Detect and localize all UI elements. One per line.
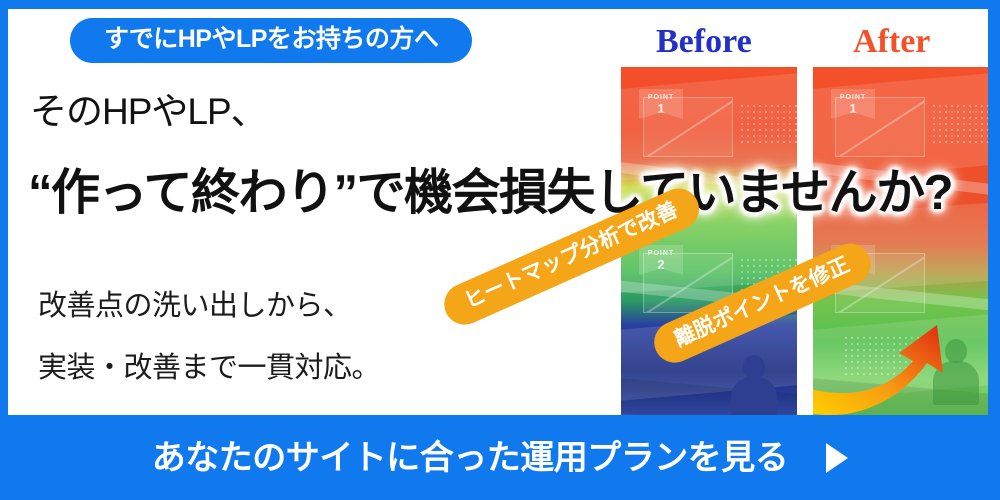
point-tag-word: POINT <box>831 89 875 101</box>
banner-white-card: すでにHPやLPをお持ちの方へ そのHPやLP、 改善点の洗い出しから、 実装・… <box>8 9 988 415</box>
promo-banner: すでにHPやLPをお持ちの方へ そのHPやLP、 改善点の洗い出しから、 実装・… <box>0 0 1000 500</box>
cta-label: あなたのサイトに合った運用プランを見る <box>152 441 789 475</box>
person-body <box>731 377 777 415</box>
point-tag-word: POINT <box>639 89 683 101</box>
subcopy-line-1: 改善点の洗い出しから、 <box>38 292 352 321</box>
headline-line-1: そのHPやLP、 <box>30 93 267 130</box>
headline-line-2: “作って終わり”で機会損失していませんか? <box>28 169 952 218</box>
growth-arrow-icon <box>813 317 988 415</box>
cta-bar[interactable]: あなたのサイトに合った運用プランを見る <box>0 415 1000 500</box>
audience-badge: すでにHPやLPをお持ちの方へ <box>70 18 472 63</box>
play-triangle-icon <box>826 443 848 473</box>
subcopy-line-2: 実装・改善まで一貫対応。 <box>38 354 380 383</box>
after-label: After <box>853 25 930 59</box>
person-silhouette <box>731 355 777 415</box>
point-tag-word: POINT <box>639 245 683 257</box>
person-head <box>743 355 765 379</box>
text-placeholder-dots <box>739 103 797 147</box>
after-heatmap-panel: POINT 1 POINT 2 <box>813 67 988 415</box>
before-label: Before <box>656 25 752 59</box>
text-placeholder-dots <box>931 103 988 147</box>
